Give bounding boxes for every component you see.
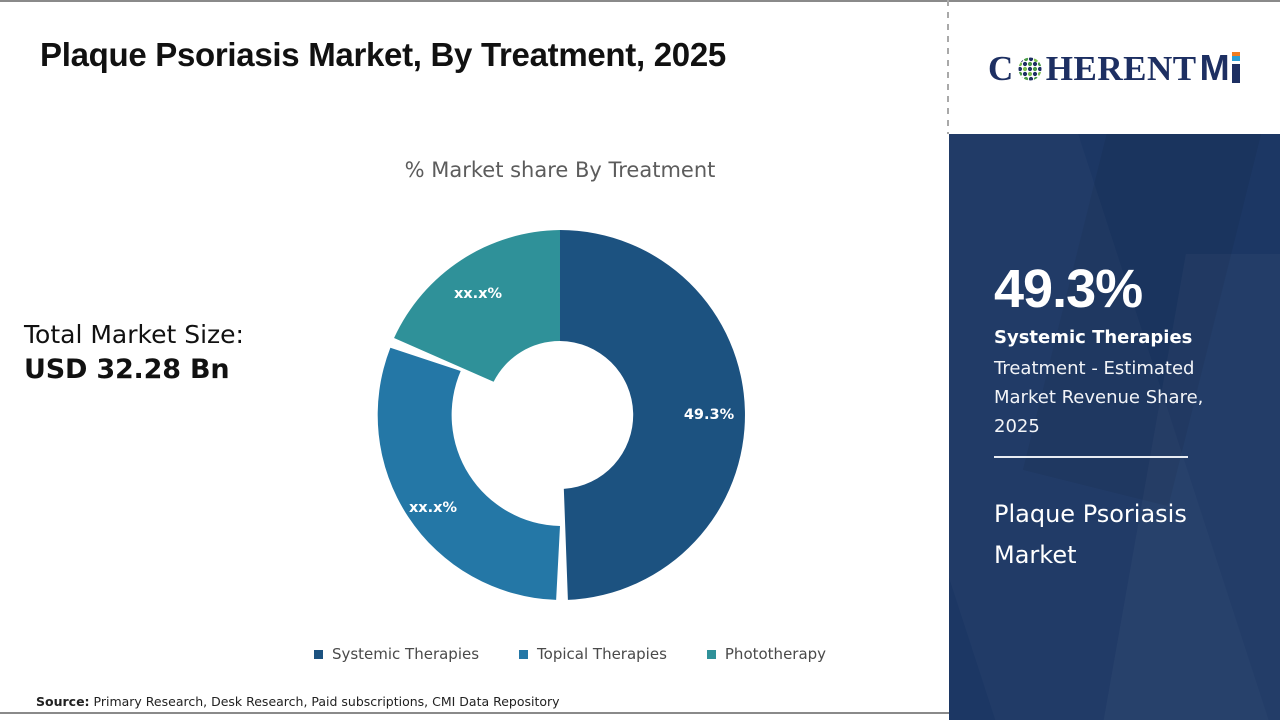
legend-swatch-icon	[519, 650, 528, 659]
donut-label-phototherapy: xx.x%	[454, 286, 503, 302]
donut-label-systemic-therapies: 49.3%	[684, 407, 735, 423]
donut-label-topical-therapies: xx.x%	[409, 500, 458, 516]
legend-swatch-icon	[707, 650, 716, 659]
logo-letters-herent: HERENT	[1046, 51, 1197, 86]
infographic-page: Plaque Psoriasis Market, By Treatment, 2…	[0, 0, 1280, 720]
stat-segment-name: Systemic Therapies	[994, 326, 1192, 350]
top-divider	[0, 0, 1280, 2]
chart-subtitle: % Market share By Treatment	[160, 158, 960, 182]
legend-item-systemic-therapies[interactable]: Systemic Therapies	[314, 645, 479, 663]
legend-label: Systemic Therapies	[332, 645, 479, 663]
legend-swatch-icon	[314, 650, 323, 659]
vertical-dashed-divider	[947, 0, 949, 134]
page-title: Plaque Psoriasis Market, By Treatment, 2…	[40, 36, 900, 74]
legend-item-phototherapy[interactable]: Phototherapy	[707, 645, 826, 663]
total-market-size-value: USD 32.28 Bn	[24, 352, 244, 388]
source-text: Primary Research, Desk Research, Paid su…	[90, 694, 560, 709]
logo-letter-c: C	[988, 51, 1014, 86]
donut-chart: 49.3% xx.x% xx.x%	[365, 220, 755, 610]
stat-value: 49.3%	[994, 262, 1142, 316]
logo-letter-i	[1229, 50, 1242, 86]
legend-label: Topical Therapies	[537, 645, 667, 663]
donut-chart-svg: 49.3% xx.x% xx.x%	[365, 220, 755, 610]
logo-text-mi: M	[1200, 50, 1243, 86]
donut-slice-topical-therapies[interactable]	[378, 348, 560, 600]
logo-i-dot-icon	[1232, 52, 1240, 61]
panel-divider	[994, 456, 1188, 458]
total-market-size-block: Total Market Size: USD 32.28 Bn	[24, 318, 244, 388]
legend-item-topical-therapies[interactable]: Topical Therapies	[519, 645, 667, 663]
stat-description: Treatment - Estimated Market Revenue Sha…	[994, 354, 1234, 441]
legend-label: Phototherapy	[725, 645, 826, 663]
globe-icon	[1015, 54, 1045, 84]
coherentmi-logo[interactable]: C	[988, 44, 1242, 92]
panel-market-name: Plaque Psoriasis Market	[994, 494, 1224, 576]
logo-i-stem	[1232, 64, 1240, 83]
source-prefix: Source:	[36, 694, 90, 709]
logo-text-coherent: C	[988, 51, 1197, 86]
source-note: Source: Primary Research, Desk Research,…	[36, 694, 560, 709]
logo-letter-m: M	[1200, 50, 1230, 86]
total-market-size-label: Total Market Size:	[24, 318, 244, 352]
chart-legend: Systemic Therapies Topical Therapies Pho…	[300, 645, 840, 663]
